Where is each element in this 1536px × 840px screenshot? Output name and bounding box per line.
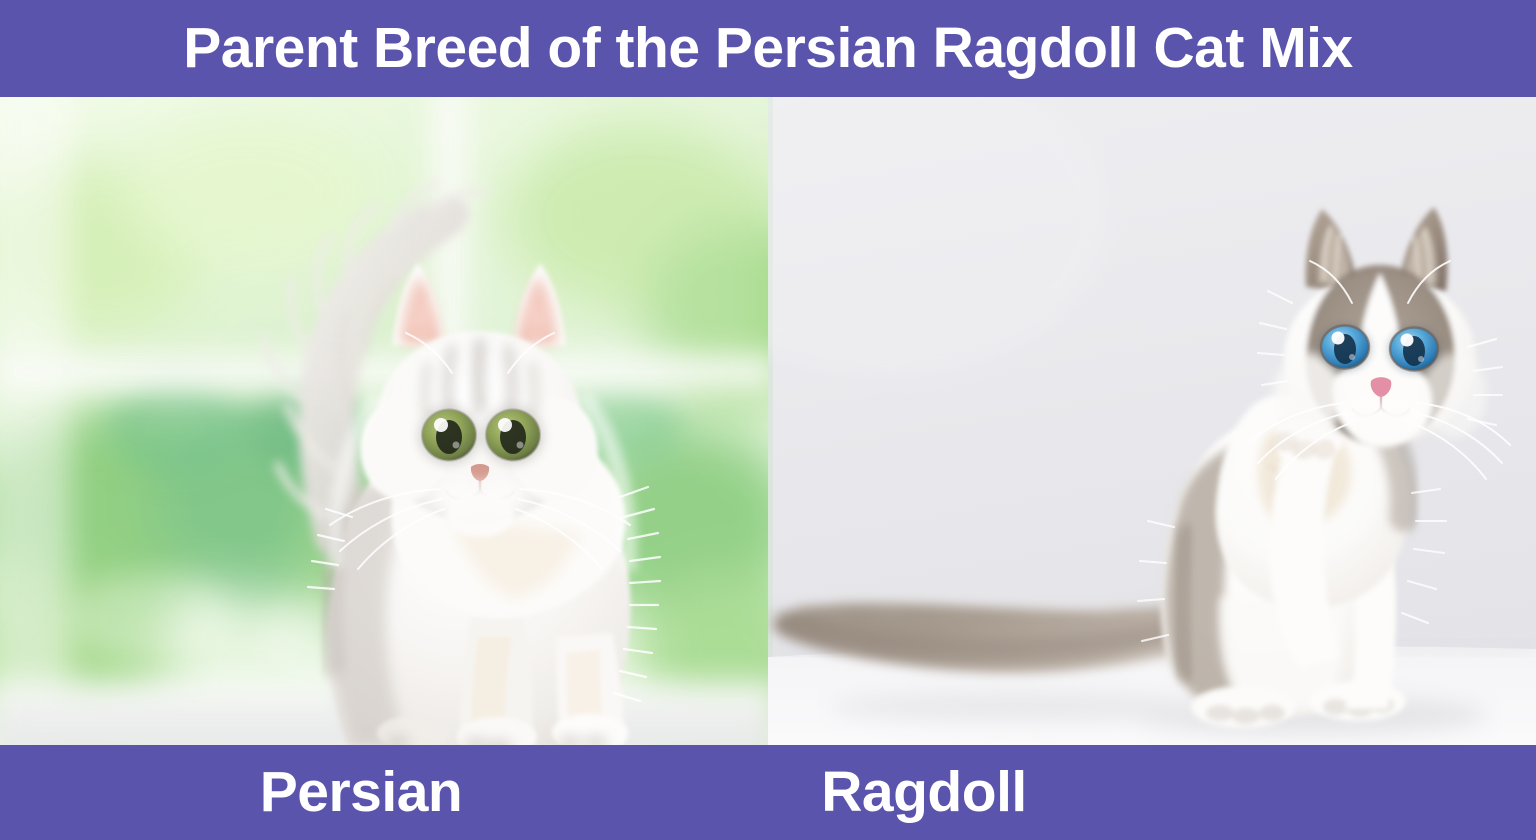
- page-title: Parent Breed of the Persian Ragdoll Cat …: [183, 20, 1352, 77]
- breed-comparison-infographic: Parent Breed of the Persian Ragdoll Cat …: [0, 0, 1536, 840]
- photo-row: [0, 97, 1536, 745]
- breed-label-persian: Persian: [260, 764, 462, 821]
- persian-illustration: [0, 97, 768, 745]
- ragdoll-photo: [768, 97, 1536, 745]
- breed-label-ragdoll: Ragdoll: [821, 764, 1027, 821]
- header-bar: Parent Breed of the Persian Ragdoll Cat …: [0, 0, 1536, 97]
- persian-photo: [0, 97, 768, 745]
- ragdoll-illustration: [768, 97, 1536, 745]
- footer-bar: Persian Ragdoll: [0, 745, 1536, 840]
- footer-cell-ragdoll: Ragdoll: [768, 745, 1536, 840]
- footer-cell-persian: Persian: [0, 745, 768, 840]
